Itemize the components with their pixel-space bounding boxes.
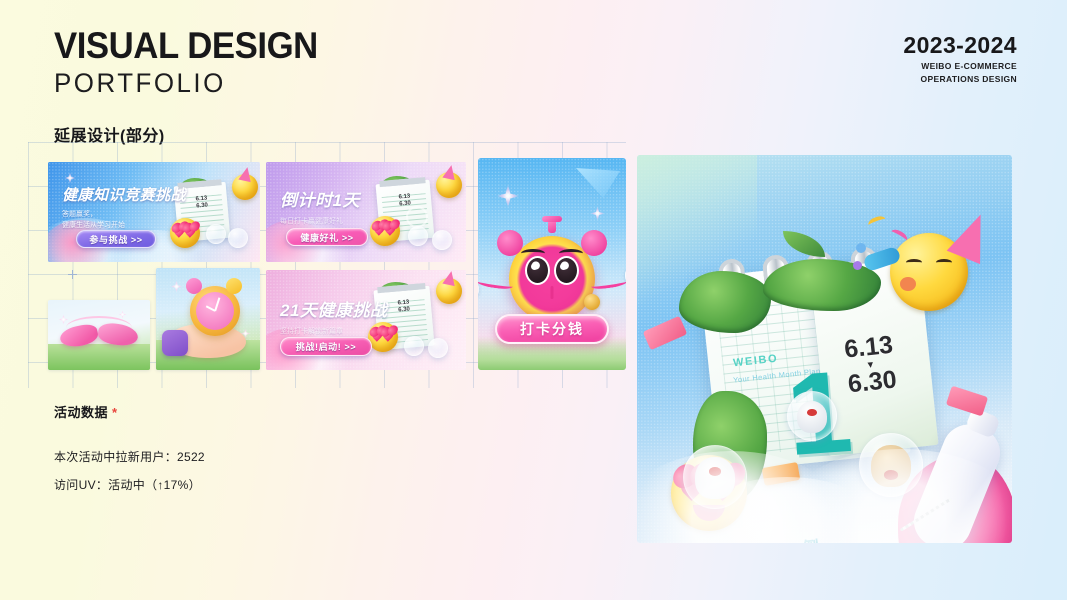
mascot-eye-right — [554, 256, 579, 285]
plush-bubble-rabbit-mid — [787, 391, 837, 441]
emoji-heart-eyes — [370, 216, 400, 246]
weibo-logo-watermark — [406, 206, 428, 228]
clock-bell-left — [186, 278, 202, 294]
meta-line-2: OPERATIONS DESIGN — [903, 73, 1017, 85]
moss-cluster-mid — [763, 259, 881, 311]
plush-face-mark — [807, 409, 817, 416]
banner-cta-button[interactable]: 健康好礼 >> — [286, 228, 368, 246]
title-block: VISUAL DESIGN PORTFOLIO — [54, 27, 335, 101]
mascot-cta-button[interactable]: 打卡分钱 — [495, 314, 609, 344]
banner-card-21day[interactable]: 6.136.30 21天健康挑战 坚持打卡解锁新篇章 挑战!启动! >> — [266, 270, 466, 370]
banner-cta-button[interactable]: 参与挑战 >> — [76, 230, 156, 248]
calendar-dates: 6.136.30 — [398, 194, 411, 209]
grass-ground — [48, 344, 150, 370]
calendar-dates: 6.136.30 — [195, 196, 208, 211]
mascot-character — [509, 236, 595, 322]
motion-arc — [66, 316, 132, 340]
confetti-dot — [853, 261, 862, 270]
page-title: VISUAL DESIGN — [54, 27, 318, 64]
stats-asterisk: * — [112, 405, 118, 420]
mascot-crown-bar — [542, 216, 562, 222]
banner-text-group: 21天健康挑战 坚持打卡解锁新篇章 — [280, 296, 387, 338]
banner-title: 21天健康挑战 — [280, 296, 387, 321]
meta-line-1: WEIBO E-COMMERCE — [903, 60, 1017, 72]
stats-block: 活动数据* 本次活动中拉新用户：2522 访问UV：活动中（↑17%） — [54, 402, 205, 493]
calendar-dates: 6.136.30 — [397, 300, 410, 315]
stats-heading-row: 活动数据* — [54, 402, 205, 421]
banner-subtitle-line1: 答题赢奖， — [62, 210, 186, 221]
emoji-eye-right — [936, 259, 952, 266]
hero-poster-card[interactable]: WEIBO Your Health Month Plan Weibo 6.13 … — [637, 155, 1012, 543]
plush-bubble — [408, 226, 428, 246]
mascot-ear-right — [581, 230, 607, 256]
banner-title: 倒计时1天 — [280, 186, 360, 211]
year-range: 2023-2024 — [903, 32, 1017, 59]
clock-bell-right — [226, 278, 242, 294]
stats-heading: 活动数据 — [54, 405, 108, 420]
banner-text-group: 健康知识竞赛挑战 答题赢奖， 健康生活从学习开始 — [62, 184, 186, 232]
plush-bubble — [428, 338, 448, 358]
plush-rabbit — [797, 401, 828, 434]
mascot-ear-left — [497, 230, 523, 256]
slide-header: VISUAL DESIGN PORTFOLIO 2023-2024 WEIBO … — [0, 0, 1067, 110]
mascot-poster-card[interactable]: 打卡分钱 — [478, 158, 626, 370]
image-card-hands[interactable] — [48, 300, 150, 370]
stats-line-2: 访问UV：活动中（↑17%） — [54, 476, 205, 493]
banner-card-countdown[interactable]: 6.136.30 倒计时1天 每日打卡赢健康好礼 健康好礼 >> — [266, 162, 466, 262]
plush-bubble — [404, 336, 424, 356]
banner-cta-button[interactable]: 挑战!启动! >> — [280, 337, 372, 356]
image-card-clock[interactable] — [156, 268, 260, 370]
moss-cluster-left — [679, 271, 771, 333]
emoji-mouth — [900, 277, 916, 291]
banner-subtitle-line1: 每日打卡赢健康好礼 — [280, 217, 360, 228]
plush-bubble — [432, 230, 452, 250]
banner-card-health-quiz[interactable]: 6.136.30 健康知识竞赛挑战 答题赢奖， 健康生活从学习开始 参与挑战 >… — [48, 162, 260, 262]
page-subtitle: PORTFOLIO — [54, 67, 323, 101]
stats-line-1: 本次活动中拉新用户：2522 — [54, 448, 205, 465]
sleeve-cuff — [162, 330, 188, 356]
mascot-clock-hand — [551, 286, 554, 299]
heart-eye-icon — [383, 221, 397, 235]
confetti-dot — [856, 243, 866, 253]
plush-bubble — [228, 228, 248, 248]
coin-icon — [584, 294, 600, 310]
plush-bubble — [206, 224, 226, 244]
emoji-eye-left — [906, 259, 922, 266]
grid-plus-icon — [68, 270, 77, 279]
header-meta: 2023-2024 WEIBO E-COMMERCE OPERATIONS DE… — [903, 32, 1017, 86]
banner-text-group: 倒计时1天 每日打卡赢健康好礼 — [280, 186, 360, 228]
mascot-eye-left — [525, 256, 550, 285]
banner-title: 健康知识竞赛挑战 — [62, 184, 186, 205]
